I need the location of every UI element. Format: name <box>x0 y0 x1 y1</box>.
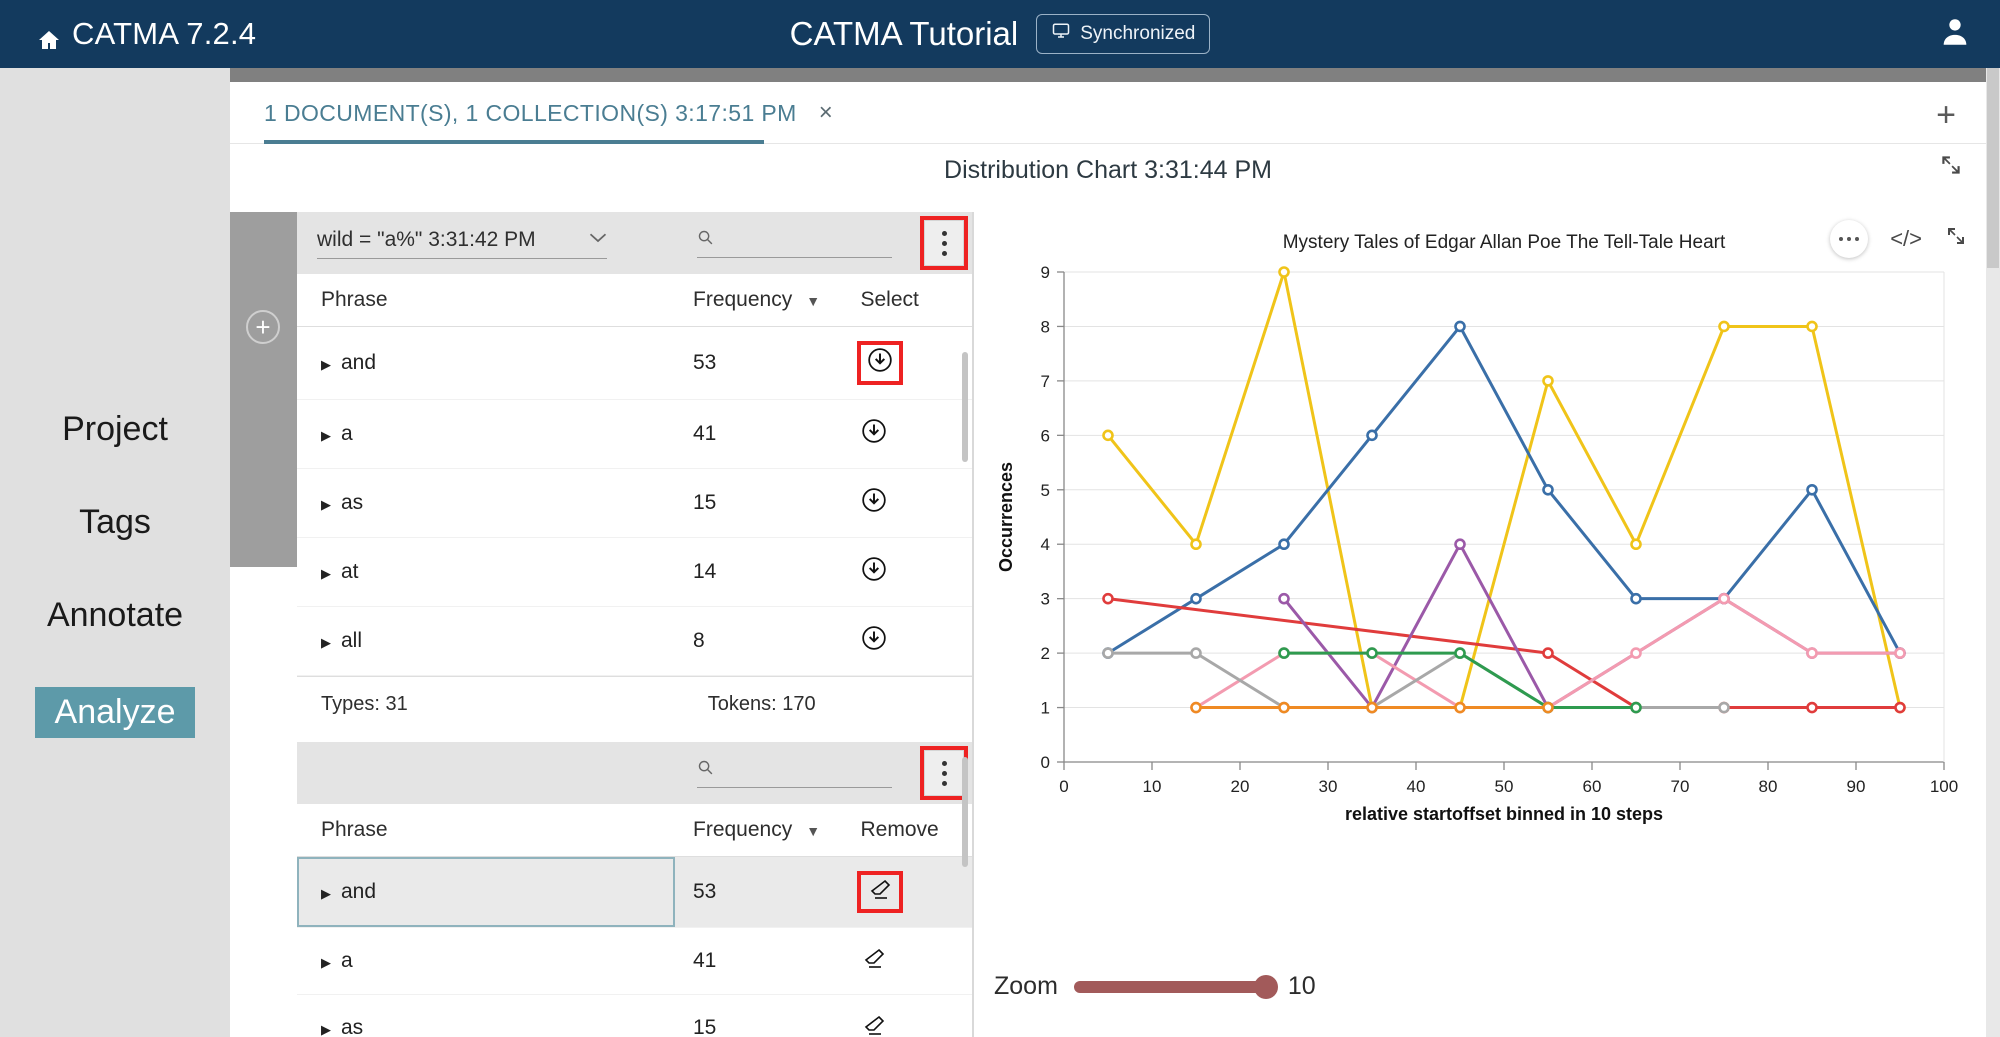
expand-caret-icon[interactable]: ▶ <box>321 886 331 901</box>
result-table-scrollbar[interactable] <box>962 352 968 462</box>
search-icon <box>697 229 714 251</box>
table-row[interactable]: ▶and 53 <box>297 857 972 928</box>
expand-caret-icon[interactable]: ▶ <box>321 357 331 372</box>
cell-phrase[interactable]: ▶and <box>297 857 675 928</box>
table-row[interactable]: ▶a 41 <box>297 400 972 469</box>
cell-remove[interactable] <box>851 995 973 1037</box>
phrase-label: a <box>341 422 353 445</box>
table-row[interactable]: ▶at 14 <box>297 538 972 607</box>
col-remove: Remove <box>851 804 973 857</box>
project-title: CATMA Tutorial <box>790 15 1019 53</box>
table-row[interactable]: ▶all 8 <box>297 607 972 676</box>
cell-phrase[interactable]: ▶at <box>297 538 675 607</box>
cell-frequency: 8 <box>675 607 851 676</box>
zoom-slider[interactable] <box>1074 981 1272 993</box>
svg-text:3: 3 <box>1041 590 1050 609</box>
svg-text:80: 80 <box>1759 777 1778 796</box>
cell-phrase[interactable]: ▶all <box>297 607 675 676</box>
col-phrase[interactable]: Phrase <box>297 804 675 857</box>
table-row[interactable]: ▶as 15 <box>297 995 972 1037</box>
svg-text:Mystery Tales of Edgar Allan P: Mystery Tales of Edgar Allan Poe The Tel… <box>1283 232 1726 253</box>
download-circle-icon[interactable] <box>861 487 887 519</box>
cell-phrase[interactable]: ▶and <box>297 327 675 400</box>
col-phrase[interactable]: Phrase <box>297 274 675 327</box>
selection-table-header: Phrase Frequency▼ Remove <box>297 804 972 857</box>
svg-text:Occurrences: Occurrences <box>996 462 1016 572</box>
download-circle-icon[interactable] <box>861 625 887 657</box>
zoom-control: Zoom 10 <box>994 972 1316 1001</box>
svg-text:90: 90 <box>1847 777 1866 796</box>
svg-text:2: 2 <box>1041 644 1050 663</box>
cell-frequency: 41 <box>675 928 851 995</box>
svg-text:50: 50 <box>1495 777 1514 796</box>
chevron-down-icon <box>589 231 607 249</box>
sync-status-badge[interactable]: Synchronized <box>1036 14 1210 54</box>
expand-caret-icon[interactable]: ▶ <box>321 497 331 512</box>
page-title: Distribution Chart 3:31:44 PM <box>944 156 1272 185</box>
search-icon <box>697 759 714 781</box>
svg-text:0: 0 <box>1059 777 1068 796</box>
svg-text:7: 7 <box>1041 372 1050 391</box>
table-row[interactable]: ▶a 41 <box>297 928 972 995</box>
sidebar-item-project[interactable]: Project <box>52 408 178 451</box>
download-circle-icon[interactable] <box>861 556 887 588</box>
expand-caret-icon[interactable]: ▶ <box>321 428 331 443</box>
expand-caret-icon[interactable]: ▶ <box>321 955 331 970</box>
cell-phrase[interactable]: ▶a <box>297 400 675 469</box>
svg-text:40: 40 <box>1407 777 1426 796</box>
svg-text:20: 20 <box>1231 777 1250 796</box>
phrase-label: and <box>341 351 376 374</box>
cell-frequency: 53 <box>675 857 851 928</box>
cell-frequency: 15 <box>675 469 851 538</box>
svg-text:5: 5 <box>1041 481 1050 500</box>
svg-text:70: 70 <box>1671 777 1690 796</box>
eraser-icon[interactable] <box>861 946 887 976</box>
selection-search-wrap[interactable] <box>697 759 892 788</box>
col-frequency-label: Frequency <box>693 288 792 311</box>
sidebar-item-annotate[interactable]: Annotate <box>37 594 193 637</box>
svg-text:relative startoffset binned in: relative startoffset binned in 10 steps <box>1345 804 1663 824</box>
phrase-label: a <box>341 949 353 972</box>
selection-panel-toolbar <box>297 742 972 804</box>
top-bar: CATMA 7.2.4 CATMA Tutorial Synchronized <box>0 0 2000 68</box>
phrase-label: and <box>341 880 376 903</box>
main-split: + wild = "a%" 3:31:42 PM <box>230 212 1986 1037</box>
zoom-value: 10 <box>1288 972 1316 1001</box>
collapsed-query-strip: + <box>230 212 297 567</box>
distribution-chart: Mystery Tales of Edgar Allan Poe The Tel… <box>974 212 1986 972</box>
svg-text:60: 60 <box>1583 777 1602 796</box>
col-frequency[interactable]: Frequency▼ <box>675 274 851 327</box>
sort-desc-icon[interactable]: ▼ <box>806 293 820 309</box>
table-row[interactable]: ▶as 15 <box>297 469 972 538</box>
cell-frequency: 53 <box>675 327 851 400</box>
left-pane: + wild = "a%" 3:31:42 PM <box>230 212 972 1037</box>
phrase-label: as <box>341 491 363 514</box>
expand-icon[interactable] <box>1938 152 1964 183</box>
svg-text:0: 0 <box>1041 753 1050 772</box>
types-count: Types: 31 <box>321 693 408 716</box>
col-select: Select <box>851 274 973 327</box>
cell-select[interactable] <box>851 607 973 676</box>
data-panels: wild = "a%" 3:31:42 PM <box>297 212 972 1037</box>
sidebar: Project Tags Annotate Analyze <box>0 68 230 1037</box>
query-select[interactable]: wild = "a%" 3:31:42 PM <box>317 228 607 259</box>
svg-text:8: 8 <box>1041 317 1050 336</box>
cell-select[interactable] <box>851 400 973 469</box>
cell-frequency: 15 <box>675 995 851 1037</box>
zoom-label: Zoom <box>994 972 1058 1001</box>
result-search-input[interactable] <box>720 229 880 251</box>
add-query-button[interactable]: + <box>246 310 280 344</box>
selection-panel-menu-button[interactable] <box>924 750 964 796</box>
cell-phrase[interactable]: ▶as <box>297 469 675 538</box>
chart-svg[interactable]: Mystery Tales of Edgar Allan Poe The Tel… <box>994 222 1994 842</box>
expand-caret-icon[interactable]: ▶ <box>321 566 331 581</box>
cell-select[interactable] <box>851 469 973 538</box>
cell-select[interactable] <box>851 538 973 607</box>
svg-text:100: 100 <box>1930 777 1958 796</box>
cell-frequency: 14 <box>675 538 851 607</box>
result-panel-footer: Types: 31 Tokens: 170 <box>297 676 972 732</box>
tab-close-icon[interactable]: × <box>819 99 833 127</box>
sort-desc-icon[interactable]: ▼ <box>806 823 820 839</box>
result-search-wrap[interactable] <box>697 229 892 258</box>
svg-text:1: 1 <box>1041 699 1050 718</box>
svg-text:30: 30 <box>1319 777 1338 796</box>
svg-text:4: 4 <box>1041 535 1050 554</box>
cell-remove[interactable] <box>851 928 973 995</box>
selection-table-scrollbar[interactable] <box>962 757 968 867</box>
query-select-label: wild = "a%" 3:31:42 PM <box>317 228 536 252</box>
monitor-icon <box>1051 22 1071 46</box>
download-circle-icon[interactable] <box>861 345 899 381</box>
tab-analysis-session[interactable]: 1 DOCUMENT(S), 1 COLLECTION(S) 3:17:51 P… <box>264 82 833 144</box>
result-table-header: Phrase Frequency▼ Select <box>297 274 972 327</box>
col-frequency-label: Frequency <box>693 818 792 841</box>
tab-label: 1 DOCUMENT(S), 1 COLLECTION(S) 3:17:51 P… <box>264 100 797 127</box>
eraser-icon[interactable] <box>861 1013 887 1037</box>
svg-text:10: 10 <box>1143 777 1162 796</box>
result-table: Phrase Frequency▼ Select ▶and 53 <box>297 274 972 676</box>
phrase-label: at <box>341 560 359 583</box>
result-panel-toolbar: wild = "a%" 3:31:42 PM <box>297 212 972 274</box>
cell-phrase[interactable]: ▶a <box>297 928 675 995</box>
sidebar-item-tags[interactable]: Tags <box>69 501 161 544</box>
svg-text:6: 6 <box>1041 426 1050 445</box>
content-card: 1 DOCUMENT(S), 1 COLLECTION(S) 3:17:51 P… <box>230 82 1986 1037</box>
top-center: CATMA Tutorial Synchronized <box>0 14 2000 54</box>
download-circle-icon[interactable] <box>861 418 887 450</box>
table-row[interactable]: ▶and 53 <box>297 327 972 400</box>
sync-status-label: Synchronized <box>1080 23 1195 45</box>
expand-caret-icon[interactable]: ▶ <box>321 635 331 650</box>
tab-bar: 1 DOCUMENT(S), 1 COLLECTION(S) 3:17:51 P… <box>230 82 1986 144</box>
cell-remove[interactable] <box>851 857 973 928</box>
cell-select[interactable] <box>851 327 973 400</box>
svg-text:9: 9 <box>1041 263 1050 282</box>
result-panel-menu-button[interactable] <box>924 220 964 266</box>
phrase-label: as <box>341 1016 363 1037</box>
distribution-chart-header: Distribution Chart 3:31:44 PM <box>230 144 1986 196</box>
chart-pane: </> Mystery Tales of Edgar Allan Poe The… <box>974 212 1986 1037</box>
col-frequency[interactable]: Frequency▼ <box>675 804 851 857</box>
app-root: CATMA 7.2.4 CATMA Tutorial Synchronized … <box>0 0 2000 1037</box>
cell-phrase[interactable]: ▶as <box>297 995 675 1037</box>
expand-caret-icon[interactable]: ▶ <box>321 1022 331 1037</box>
cell-frequency: 41 <box>675 400 851 469</box>
phrase-label: all <box>341 629 362 652</box>
sidebar-item-analyze[interactable]: Analyze <box>35 687 196 738</box>
add-tab-button[interactable]: + <box>1936 96 1956 135</box>
selection-table: Phrase Frequency▼ Remove ▶and 53 <box>297 804 972 1037</box>
selection-search-input[interactable] <box>720 759 880 781</box>
eraser-icon[interactable] <box>861 875 899 909</box>
tokens-count: Tokens: 170 <box>708 693 816 716</box>
zoom-slider-knob[interactable] <box>1254 975 1278 999</box>
user-icon[interactable] <box>1938 14 1972 55</box>
